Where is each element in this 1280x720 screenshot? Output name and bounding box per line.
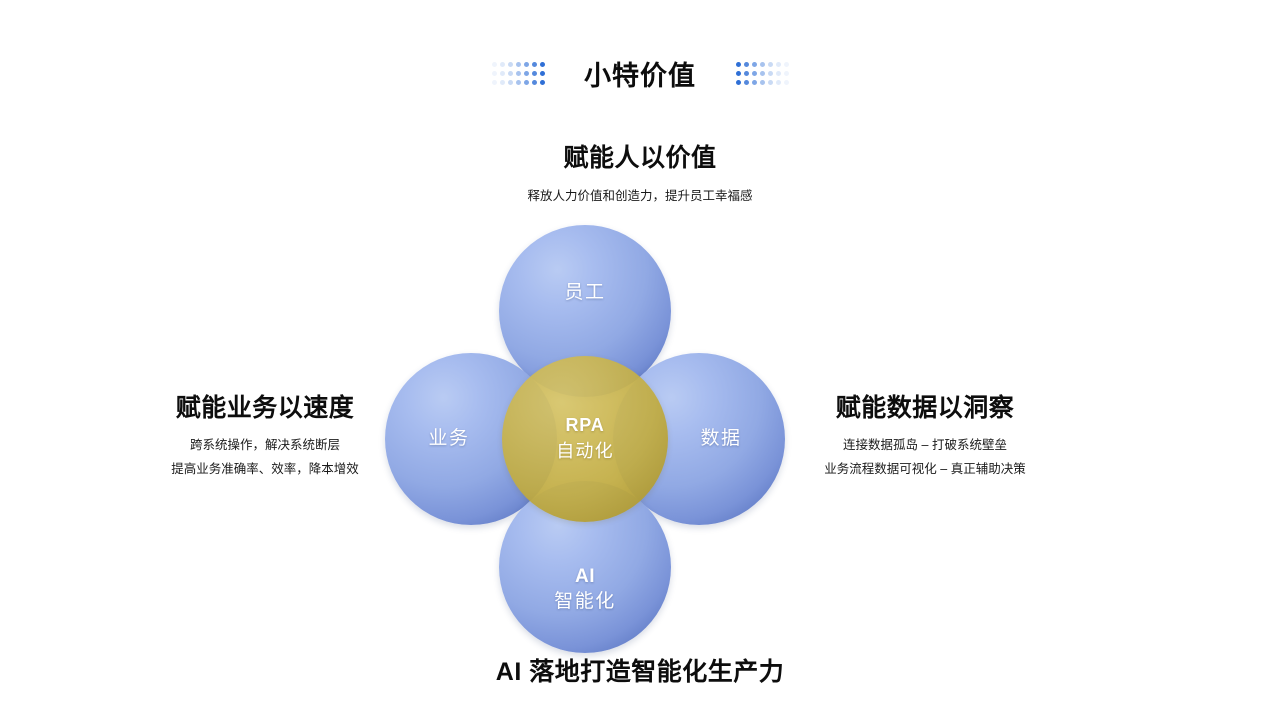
rpa-value-diagram: 员工 业务 数据 AI 智能化 RPA 自动化 <box>385 225 785 625</box>
dot <box>492 80 497 85</box>
dot <box>508 80 513 85</box>
block-bottom-heading: AI 落地打造智能化生产力 <box>0 652 1280 688</box>
core-rpa-line2: 自动化 <box>556 441 614 461</box>
block-top-heading: 赋能人以价值 <box>0 138 1280 174</box>
dot <box>784 71 789 76</box>
block-left-line-1: 跨系统操作，解决系统断层 <box>110 433 420 457</box>
dot <box>776 62 781 67</box>
value-block-bottom: AI 落地打造智能化生产力 <box>0 652 1280 688</box>
dot <box>736 80 741 85</box>
dot <box>516 71 521 76</box>
dot <box>768 71 773 76</box>
dot <box>492 62 497 67</box>
dot <box>776 71 781 76</box>
block-top-line-1: 释放人力价值和创造力，提升员工幸福感 <box>0 184 1280 208</box>
dot-grid-icon-left <box>490 60 546 87</box>
petal-ai-label-line1: AI <box>575 566 595 587</box>
dot <box>752 80 757 85</box>
dot <box>784 80 789 85</box>
dot <box>768 80 773 85</box>
block-left-line-2: 提高业务准确率、效率，降本增效 <box>110 457 420 481</box>
dot <box>524 71 529 76</box>
petal-business-label: 业务 <box>428 426 469 451</box>
dot <box>500 80 505 85</box>
value-block-top: 赋能人以价值 释放人力价值和创造力，提升员工幸福感 <box>0 138 1280 208</box>
dot <box>768 62 773 67</box>
value-block-right: 赋能数据以洞察 连接数据孤岛 – 打破系统壁垒 业务流程数据可视化 – 真正辅助… <box>770 388 1080 482</box>
dot <box>532 71 537 76</box>
dot <box>752 71 757 76</box>
dot <box>784 62 789 67</box>
dot <box>744 62 749 67</box>
dot <box>532 80 537 85</box>
petal-ai-label-line2: 智能化 <box>554 591 616 612</box>
dot <box>492 71 497 76</box>
dot <box>524 62 529 67</box>
dot <box>500 62 505 67</box>
dot <box>500 71 505 76</box>
dot <box>508 71 513 76</box>
dot <box>516 80 521 85</box>
dot <box>524 80 529 85</box>
petal-ai-label: AI 智能化 <box>554 564 616 614</box>
core-rpa-label: RPA 自动化 <box>556 413 614 464</box>
block-right-heading: 赋能数据以洞察 <box>770 388 1080 424</box>
core-rpa-line1: RPA <box>565 415 604 435</box>
page-title: 小特价值 <box>584 54 696 93</box>
block-right-line-1: 连接数据孤岛 – 打破系统壁垒 <box>770 433 1080 457</box>
dot <box>736 62 741 67</box>
dot <box>760 80 765 85</box>
dot <box>540 80 545 85</box>
petal-employee-label: 员工 <box>564 280 605 305</box>
dot-grid-icon-right <box>734 60 790 87</box>
dot <box>516 62 521 67</box>
dot <box>540 71 545 76</box>
dot <box>540 62 545 67</box>
dot <box>760 71 765 76</box>
dot <box>752 62 757 67</box>
block-right-line-2: 业务流程数据可视化 – 真正辅助决策 <box>770 457 1080 481</box>
dot <box>532 62 537 67</box>
dot <box>744 80 749 85</box>
page-header: 小特价值 <box>0 54 1280 93</box>
dot <box>736 71 741 76</box>
diagram-core-rpa[interactable]: RPA 自动化 <box>502 356 668 522</box>
dot <box>776 80 781 85</box>
block-left-heading: 赋能业务以速度 <box>110 388 420 424</box>
petal-data-label: 数据 <box>700 426 741 451</box>
dot <box>508 62 513 67</box>
dot <box>760 62 765 67</box>
dot <box>744 71 749 76</box>
value-block-left: 赋能业务以速度 跨系统操作，解决系统断层 提高业务准确率、效率，降本增效 <box>110 388 420 482</box>
